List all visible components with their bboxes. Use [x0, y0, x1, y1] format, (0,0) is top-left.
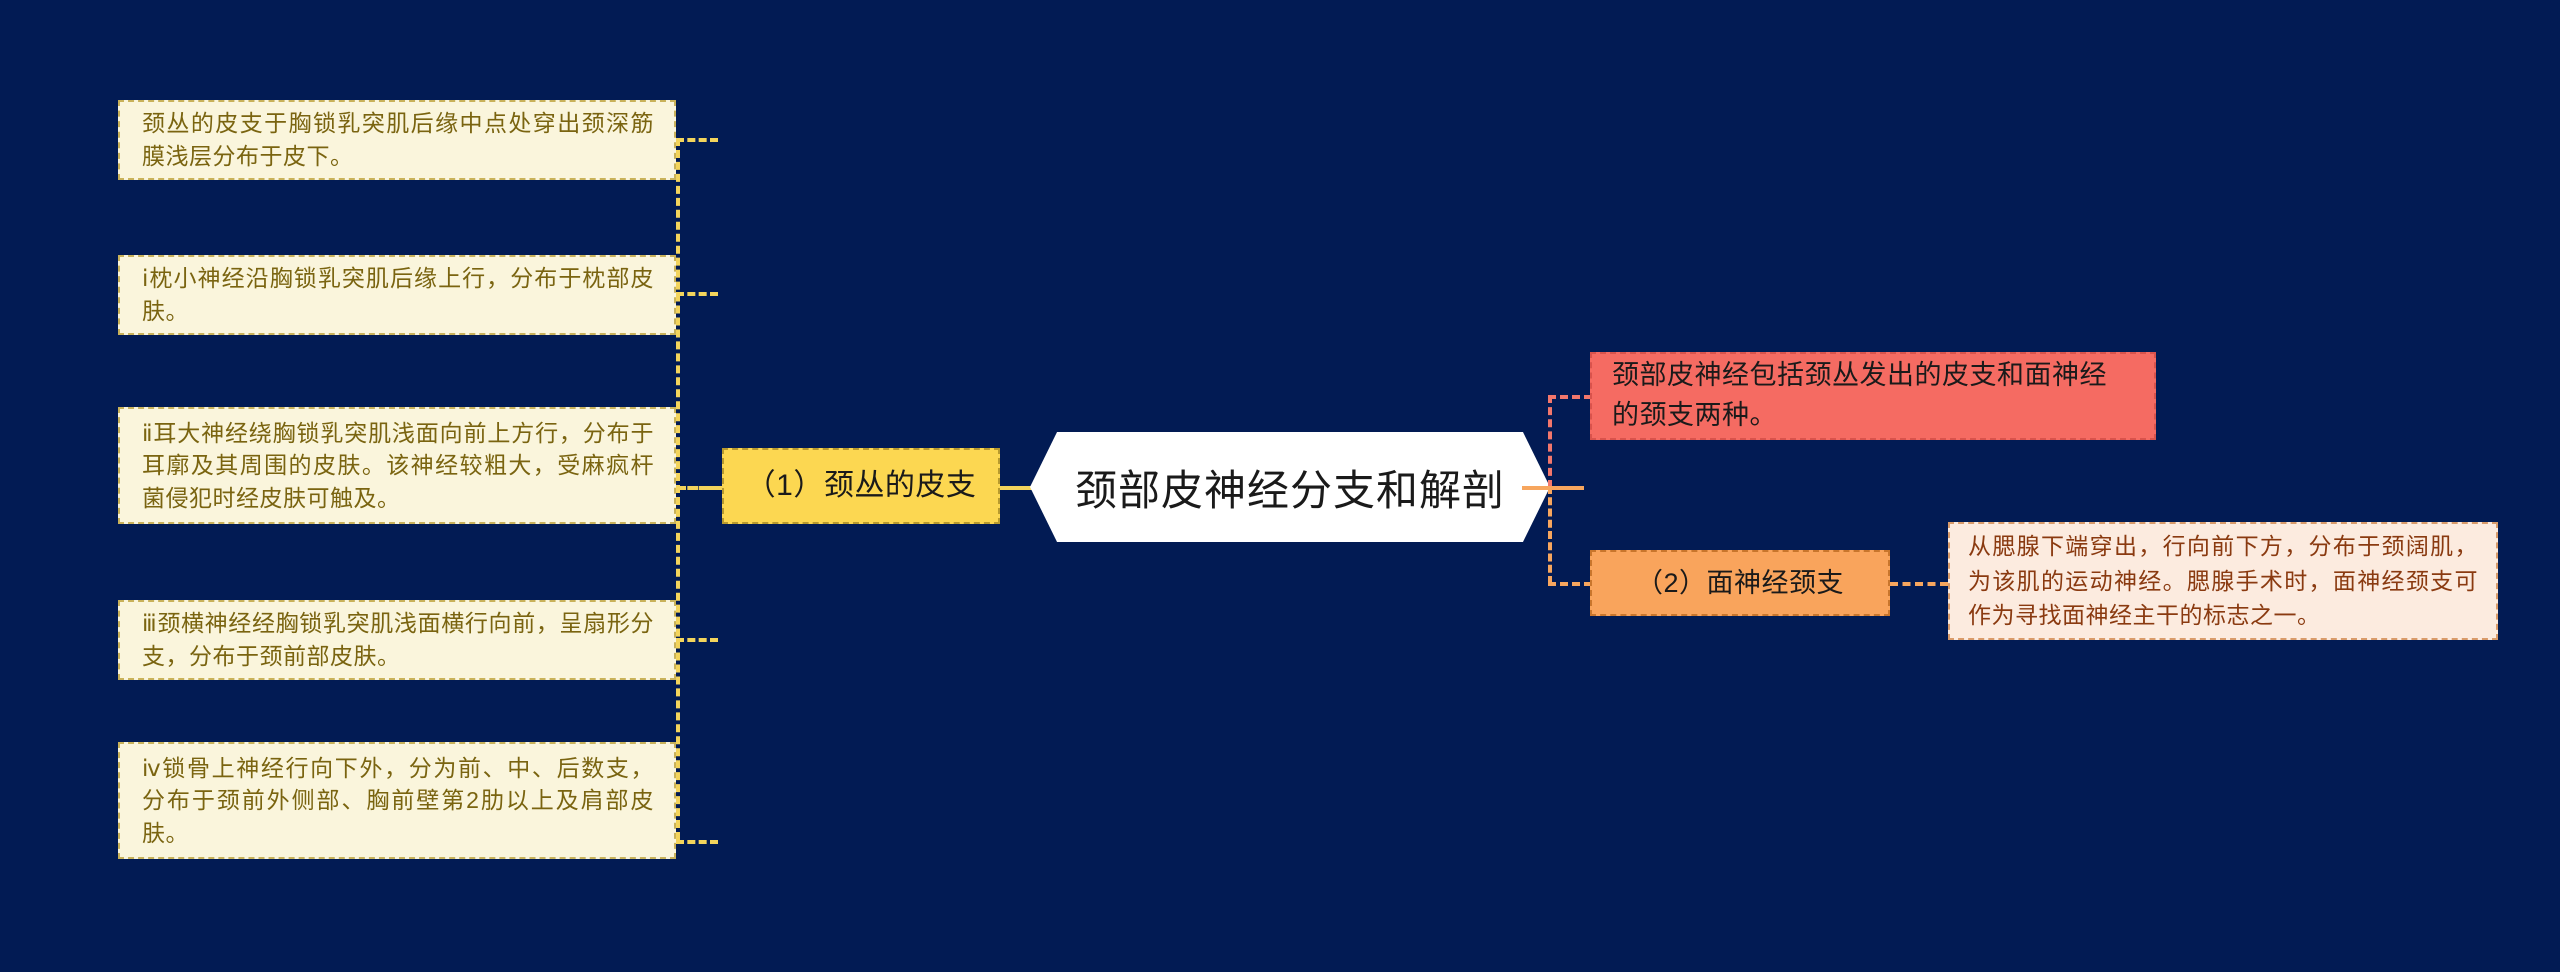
connector-left-stub-2 — [676, 292, 718, 296]
leaf-node-3-text: ⅱ耳大神经绕胸锁乳突肌浅面向前上方行，分布于耳廓及其周围的皮肤。该神经较粗大，受… — [142, 417, 654, 515]
root-node-label: 颈部皮神经分支和解剖 — [1075, 457, 1505, 518]
connector-right-stub-branch2 — [1548, 582, 1592, 586]
root-node[interactable]: 颈部皮神经分支和解剖 — [1030, 432, 1550, 542]
leaf-node-6-text: 从腮腺下端穿出，行向前下方，分布于颈阔肌，为该肌的运动神经。腮腺手术时，面神经颈… — [1968, 529, 2478, 633]
connector-left-stub-4 — [676, 638, 718, 642]
leaf-node-5[interactable]: ⅳ锁骨上神经行向下外，分为前、中、后数支，分布于颈前外侧部、胸前壁第2肋以上及肩… — [118, 742, 676, 859]
leaf-node-2-text: ⅰ枕小神经沿胸锁乳突肌后缘上行，分布于枕部皮肤。 — [142, 262, 654, 327]
branch-node-1-label: （1）颈丛的皮支 — [746, 465, 977, 508]
mindmap-canvas: 颈丛的皮支于胸锁乳突肌后缘中点处穿出颈深筋膜浅层分布于皮下。 ⅰ枕小神经沿胸锁乳… — [0, 0, 2560, 972]
connector-left-spine-to-branch — [678, 486, 722, 490]
connector-left-stub-5 — [676, 840, 718, 844]
connector-root-to-right-spine — [1522, 486, 1584, 490]
leaf-node-1[interactable]: 颈丛的皮支于胸锁乳突肌后缘中点处穿出颈深筋膜浅层分布于皮下。 — [118, 100, 676, 180]
connector-left-stub-1 — [676, 138, 718, 142]
leaf-node-2[interactable]: ⅰ枕小神经沿胸锁乳突肌后缘上行，分布于枕部皮肤。 — [118, 255, 676, 335]
leaf-node-5-text: ⅳ锁骨上神经行向下外，分为前、中、后数支，分布于颈前外侧部、胸前壁第2肋以上及肩… — [142, 752, 654, 850]
leaf-node-6[interactable]: 从腮腺下端穿出，行向前下方，分布于颈阔肌，为该肌的运动神经。腮腺手术时，面神经颈… — [1948, 522, 2498, 640]
connector-right-spine-upper — [1548, 395, 1552, 488]
connector-branch2-to-note — [1890, 582, 1948, 586]
leaf-node-1-text: 颈丛的皮支于胸锁乳突肌后缘中点处穿出颈深筋膜浅层分布于皮下。 — [142, 107, 654, 172]
branch-node-2[interactable]: （2）面神经颈支 — [1590, 550, 1890, 616]
branch-node-1[interactable]: （1）颈丛的皮支 — [722, 448, 1000, 524]
summary-node[interactable]: 颈部皮神经包括颈丛发出的皮支和面神经的颈支两种。 — [1590, 352, 2156, 440]
summary-node-text: 颈部皮神经包括颈丛发出的皮支和面神经的颈支两种。 — [1612, 356, 2134, 436]
leaf-node-4[interactable]: ⅲ颈横神经经胸锁乳突肌浅面横行向前，呈扇形分支，分布于颈前部皮肤。 — [118, 600, 676, 680]
branch-node-2-label: （2）面神经颈支 — [1636, 564, 1844, 602]
leaf-node-3[interactable]: ⅱ耳大神经绕胸锁乳突肌浅面向前上方行，分布于耳廓及其周围的皮肤。该神经较粗大，受… — [118, 407, 676, 524]
connector-right-stub-summary — [1548, 395, 1592, 399]
connector-right-spine-lower — [1548, 486, 1552, 584]
leaf-node-4-text: ⅲ颈横神经经胸锁乳突肌浅面横行向前，呈扇形分支，分布于颈前部皮肤。 — [142, 607, 654, 672]
